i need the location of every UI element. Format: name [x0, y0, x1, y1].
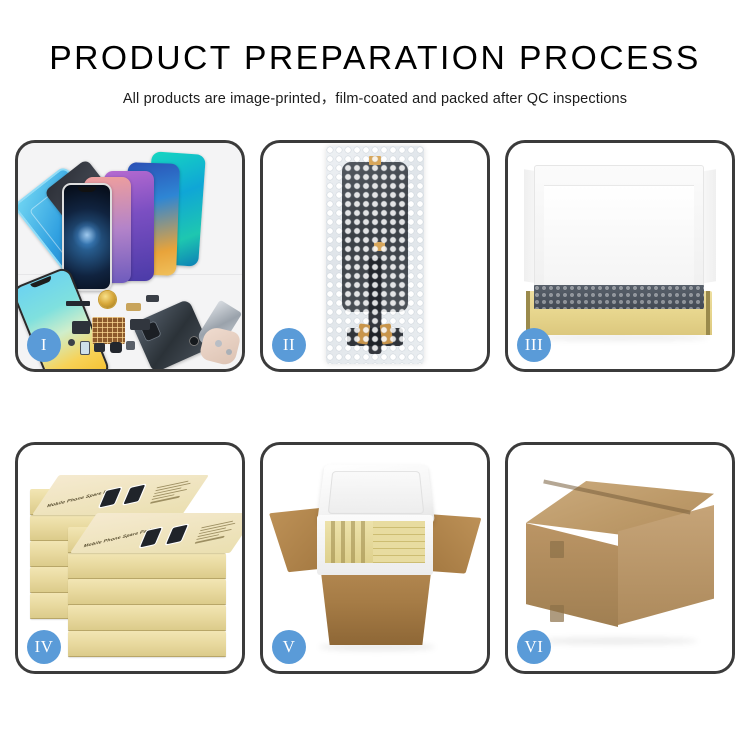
- bubble-wrapped-contents: [534, 285, 704, 309]
- screw-part-b: [215, 340, 222, 347]
- step-badge-6: VI: [517, 630, 551, 664]
- step-badge-5: V: [272, 630, 306, 664]
- flex-cable-part-d: [146, 295, 159, 302]
- step-badge-3: III: [517, 328, 551, 362]
- step-badge-1: I: [27, 328, 61, 362]
- printed-box-lid-top: Mobile Phone Spare Parts: [32, 475, 209, 515]
- tape-strip-middle: [374, 242, 385, 251]
- packed-boxes-inside: [325, 521, 425, 563]
- flex-cable-part-b: [130, 319, 150, 330]
- process-step-panel-4[interactable]: Mobile Phone Spare Parts Mobile Phone Sp…: [15, 442, 245, 674]
- process-step-panel-1[interactable]: I: [15, 140, 245, 372]
- process-step-panel-6[interactable]: VI: [505, 442, 735, 674]
- process-step-panel-5[interactable]: V: [260, 442, 490, 674]
- bubble-wrap-bag: [326, 146, 424, 364]
- process-step-panel-3[interactable]: III: [505, 140, 735, 372]
- carton-body: [315, 573, 437, 645]
- screen-connector-board: [347, 328, 403, 346]
- process-step-panel-2[interactable]: II: [260, 140, 490, 372]
- vibration-motor-part: [99, 291, 116, 308]
- earpiece-part: [66, 301, 90, 306]
- box-lid-inner: [544, 185, 694, 289]
- camera-module-part: [80, 341, 90, 355]
- page-subtitle: All products are image-printed，film-coat…: [0, 87, 750, 108]
- bracket-part: [126, 341, 135, 350]
- carton-tape-patch-lower: [550, 605, 564, 622]
- box-tray-front: [526, 309, 712, 335]
- box-stack: Mobile Phone Spare Parts Mobile Phone Sp…: [26, 463, 232, 659]
- carton-tape-patch-upper: [550, 541, 564, 558]
- connector-part: [94, 343, 105, 352]
- battery-connector-part: [110, 342, 122, 353]
- tape-strip-top: [369, 156, 381, 165]
- page-title: PRODUCT PREPARATION PROCESS: [0, 40, 750, 76]
- tape-strip-bottom-right: [380, 323, 394, 344]
- flex-cable-part-a: [72, 321, 90, 334]
- flex-cable-part-c: [126, 303, 141, 311]
- screw-part-c: [226, 349, 232, 355]
- printed-box-lid-front: Mobile Phone Spare Parts: [70, 513, 242, 553]
- screw-part-a: [68, 339, 75, 346]
- step-badge-4: IV: [27, 630, 61, 664]
- logic-board-part: [92, 317, 125, 344]
- process-steps-grid: I II: [0, 140, 750, 674]
- page-header: PRODUCT PREPARATION PROCESS All products…: [0, 0, 750, 108]
- step-badge-2: II: [272, 328, 306, 362]
